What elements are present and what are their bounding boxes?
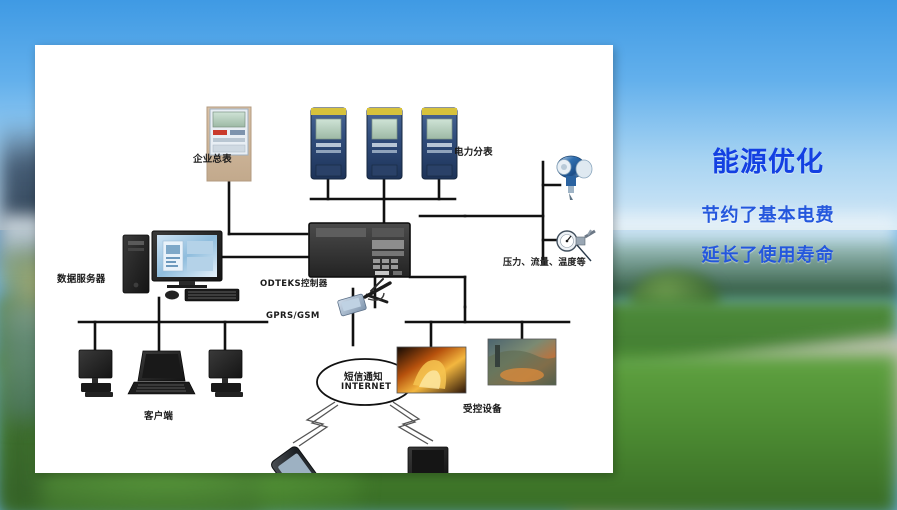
diagram-panel: 企业总表 电力分表 压力、流量、温度等 数据服务器 ODTEKS控制器 GPRS… xyxy=(35,45,613,473)
label-internet: INTERNET xyxy=(341,382,391,392)
label-data-server: 数据服务器 xyxy=(57,271,106,285)
label-gprs-gsm: GPRS/GSM xyxy=(266,311,320,321)
controller-box xyxy=(309,223,410,277)
client-laptop xyxy=(128,351,195,394)
pressure-transmitter xyxy=(557,156,592,200)
furnace-photo xyxy=(397,347,466,393)
label-sensor-group: 压力、流量、温度等 xyxy=(503,255,586,268)
label-odteks-controller: ODTEKS控制器 xyxy=(260,277,328,289)
remote-pc xyxy=(403,447,451,473)
client-pc-left xyxy=(79,350,113,397)
benefits-text-block: 能源优化 节约了基本电费 延长了使用寿命 xyxy=(648,140,888,267)
benefits-title: 能源优化 xyxy=(648,140,888,179)
enterprise-meter-device xyxy=(207,107,251,181)
client-pc-right xyxy=(209,350,243,397)
label-enterprise-main-meter: 企业总表 xyxy=(193,151,232,165)
system-topology-diagram: 企业总表 电力分表 压力、流量、温度等 数据服务器 ODTEKS控制器 GPRS… xyxy=(35,45,613,473)
power-meter-2 xyxy=(367,108,402,179)
gprs-modem xyxy=(337,279,390,316)
wireless-link-right xyxy=(390,402,433,444)
wireless-link-left xyxy=(293,402,338,446)
label-client-side: 客户端 xyxy=(144,408,173,422)
benefit-line-1: 节约了基本电费 xyxy=(648,201,888,227)
power-meter-1 xyxy=(311,108,346,179)
power-meter-3 xyxy=(422,108,457,179)
label-power-sub-meter: 电力分表 xyxy=(454,144,493,158)
plant-photo xyxy=(488,339,556,385)
label-sms-notify: 短信通知 xyxy=(344,369,383,383)
server-workstation xyxy=(123,231,239,301)
benefit-line-2: 延长了使用寿命 xyxy=(648,241,888,267)
mobile-phone xyxy=(270,445,329,473)
label-controlled-equipment: 受控设备 xyxy=(463,401,502,415)
